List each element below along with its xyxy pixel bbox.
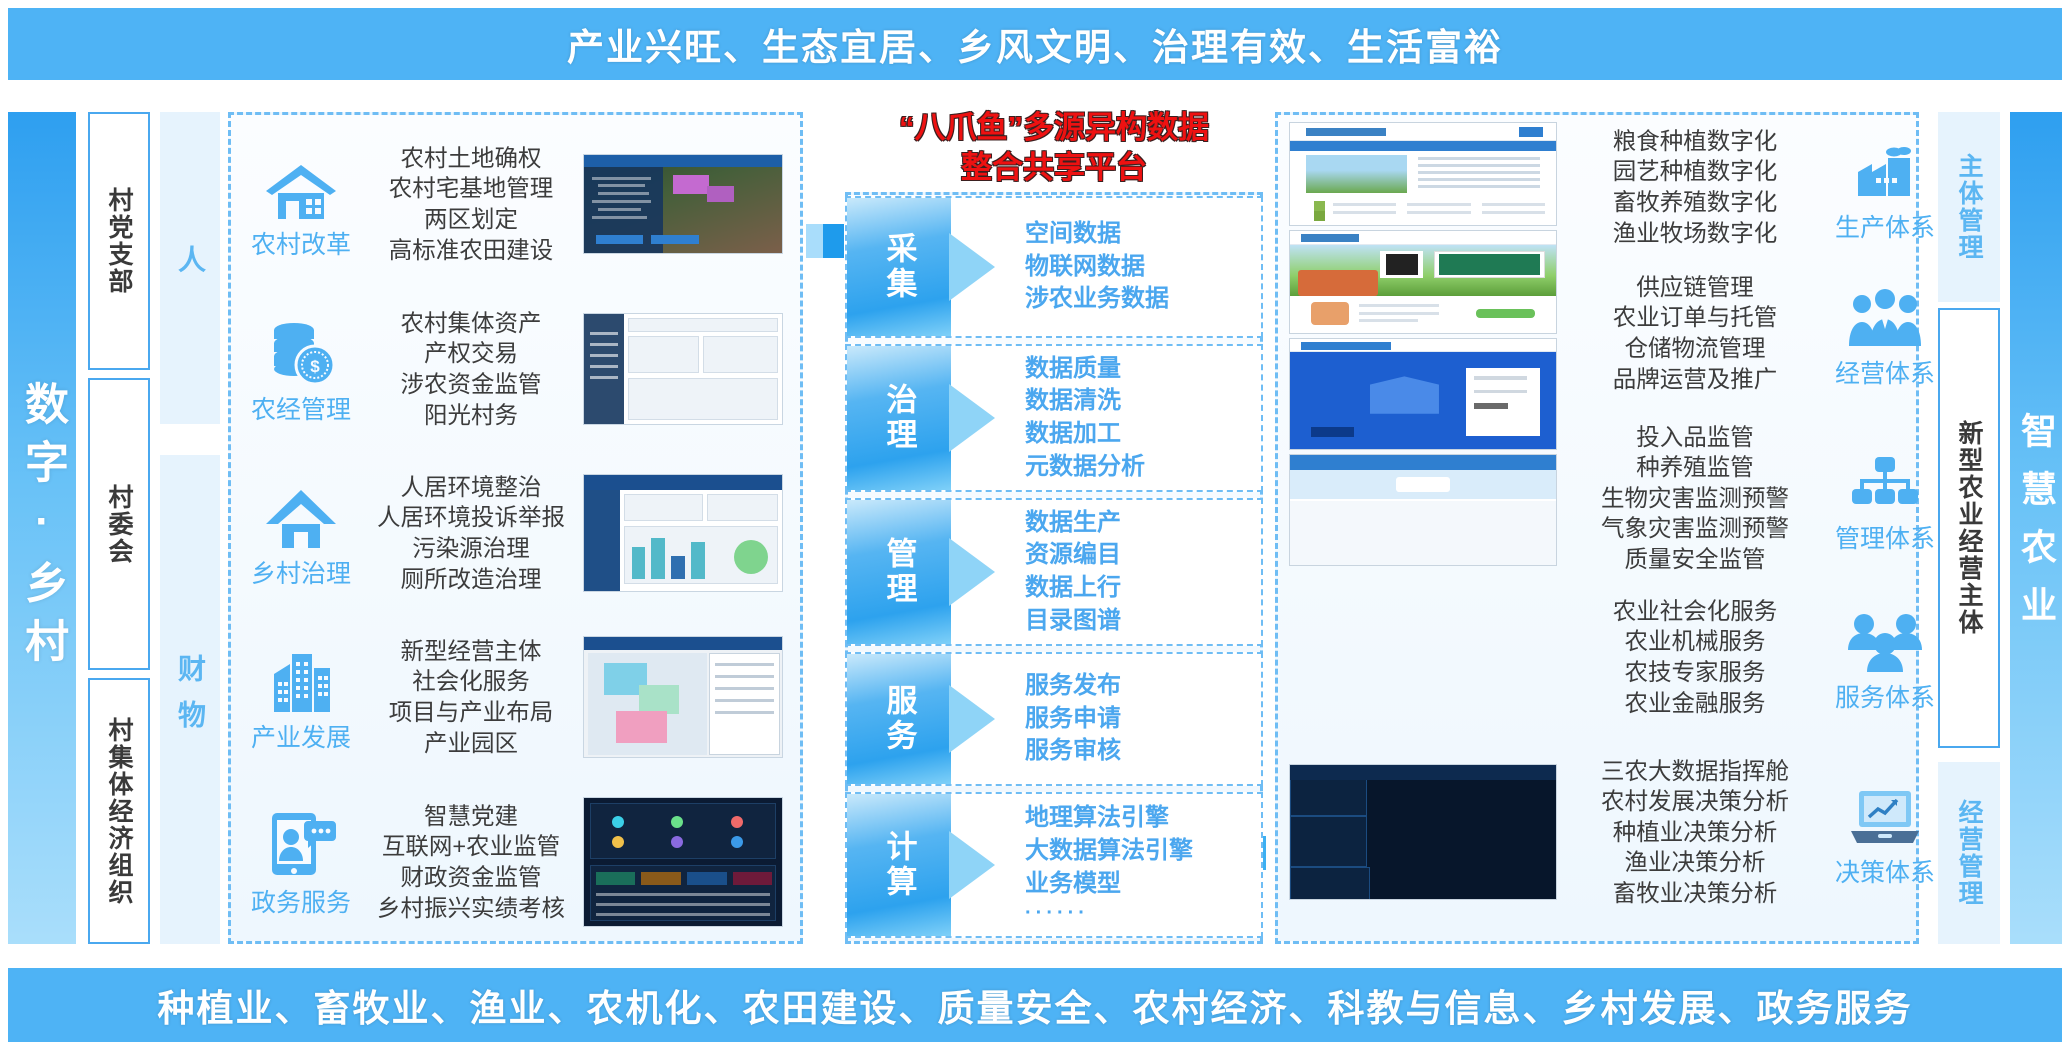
factory-icon <box>1848 130 1922 204</box>
domain-row-rural-governance: 乡村治理 人居环境整治 人居环境投诉举报 污染源治理 厕所改造治理 <box>231 455 806 611</box>
system-item: 畜牧业决策分析 <box>1570 878 1820 909</box>
process-item-ellipsis: ······ <box>1025 900 1261 927</box>
laptop-chart-icon <box>1845 775 1925 849</box>
domain-row-industry-development: 产业发展 新型经营主体 社会化服务 项目与产业布局 产业园区 <box>231 619 806 775</box>
resource-group-label: 财物 <box>170 654 210 746</box>
domain-item: 阳光村务 <box>371 400 571 431</box>
domain-item: 乡村振兴实绩考核 <box>371 893 571 924</box>
domain-item: 互联网+农业监管 <box>371 831 571 862</box>
system-item: 园艺种植数字化 <box>1570 156 1820 187</box>
top-banner: 产业兴旺、生态宜居、乡风文明、治理有效、生活富裕 <box>8 8 2062 80</box>
platform-title: “八爪鱼”多源异构数据 整合共享平台 <box>845 108 1263 188</box>
domain-item: 人居环境整治 <box>371 472 571 503</box>
domain-caption: 农村改革 <box>251 225 351 261</box>
process-tab-label: 治理 <box>877 383 922 453</box>
system-item: 农业机械服务 <box>1570 626 1820 657</box>
system-row-operation: 供应链管理 农业订单与托管 仓储物流管理 品牌运营及推广 经营体系 <box>1570 268 1950 398</box>
process-tab: 管理 <box>847 500 951 644</box>
system-icon-block: 服务体系 <box>1820 600 1950 714</box>
domain-row-government-service: 政务服务 智慧党建 互联网+农业监管 财政资金监管 乡村振兴实绩考核 <box>231 783 806 941</box>
left-rail-title: 数字·乡村 <box>8 112 76 944</box>
domain-item-list: 新型经营主体 社会化服务 项目与产业布局 产业园区 <box>371 636 571 758</box>
resource-group-label: 人 <box>170 245 210 291</box>
system-row-production: 粮食种植数字化 园艺种植数字化 畜牧养殖数字化 渔业牧场数字化 生产体系 <box>1570 122 1950 252</box>
thumbnail-service-portal <box>1289 454 1557 566</box>
process-item-list: 空间数据 物联网数据 涉农业务数据 <box>951 198 1261 336</box>
system-item: 质量安全监管 <box>1570 544 1820 575</box>
system-row-service: 农业社会化服务 农业机械服务 农技专家服务 农业金融服务 服务体系 <box>1570 592 1950 722</box>
platform-title-line2: 整合共享平台 <box>845 148 1263 188</box>
org-unit-label: 村委会 <box>101 484 137 565</box>
thumbnail-map-satellite <box>583 154 783 254</box>
process-item: 目录图谱 <box>1025 605 1261 638</box>
system-item: 种养殖监管 <box>1570 452 1820 483</box>
process-item: 数据生产 <box>1025 507 1261 540</box>
system-caption: 决策体系 <box>1835 853 1935 889</box>
process-item: 业务模型 <box>1025 868 1261 901</box>
domain-icon-block: $ 农经管理 <box>231 312 371 426</box>
process-item: 服务发布 <box>1025 670 1261 703</box>
system-item: 气象灾害监测预警 <box>1570 513 1820 544</box>
system-row-management: 投入品监管 种养殖监管 生物灾害监测预警 气象灾害监测预警 质量安全监管 管理体… <box>1570 418 1950 578</box>
process-tab-label: 管理 <box>877 537 922 607</box>
system-item: 种植业决策分析 <box>1570 817 1820 848</box>
system-item: 投入品监管 <box>1570 422 1820 453</box>
resource-group-finance-assets: 财物 <box>160 455 220 944</box>
resource-group-people: 人 <box>160 112 220 424</box>
right-rail-business-management: 经营管理 <box>1938 762 2000 944</box>
left-domain-panel: 农村改革 农村土地确权 农村宅基地管理 两区划定 高标准农田建设 <box>228 112 803 944</box>
system-item: 农业订单与托管 <box>1570 302 1820 333</box>
system-item-list: 三农大数据指挥舱 农村发展决策分析 种植业决策分析 渔业决策分析 畜牧业决策分析 <box>1570 756 1820 909</box>
thumbnail-bigdata-command <box>1289 764 1557 900</box>
left-rail-title-text: 数字·乡村 <box>10 381 74 676</box>
system-item: 畜牧养殖数字化 <box>1570 187 1820 218</box>
system-icon-block: 生产体系 <box>1820 130 1950 244</box>
domain-item: 产权交易 <box>371 338 571 369</box>
process-item: 数据清洗 <box>1025 385 1261 418</box>
process-tab-label: 采集 <box>877 232 922 302</box>
platform-title-line1: “八爪鱼”多源异构数据 <box>845 108 1263 148</box>
domain-item: 新型经营主体 <box>371 636 571 667</box>
system-caption: 经营体系 <box>1835 354 1935 390</box>
domain-item: 农村宅基地管理 <box>371 173 571 204</box>
right-rail-label: 主体管理 <box>1951 153 1987 261</box>
domain-icon-block: 农村改革 <box>231 147 371 261</box>
domain-item: 农村集体资产 <box>371 308 571 339</box>
system-icon-block: 经营体系 <box>1820 276 1950 390</box>
right-rail-label: 经营管理 <box>1951 799 1987 907</box>
org-unit-village-committee: 村委会 <box>88 378 150 670</box>
domain-caption: 政务服务 <box>251 883 351 919</box>
domain-item-list: 智慧党建 互联网+农业监管 财政资金监管 乡村振兴实绩考核 <box>371 801 571 923</box>
process-block-manage[interactable]: 管理 数据生产 资源编目 数据上行 目录图谱 <box>845 498 1263 646</box>
process-item: 空间数据 <box>1025 218 1261 251</box>
process-item-list: 服务发布 服务申请 服务审核 <box>951 654 1261 784</box>
process-tab: 计算 <box>847 794 951 936</box>
thumbnail-analytics-chart <box>583 474 783 592</box>
svg-text:$: $ <box>310 357 320 376</box>
system-item: 供应链管理 <box>1570 272 1820 303</box>
system-item: 粮食种植数字化 <box>1570 126 1820 157</box>
system-row-decision: 三农大数据指挥舱 农村发展决策分析 种植业决策分析 渔业决策分析 畜牧业决策分析… <box>1570 752 1950 912</box>
domain-item: 产业园区 <box>371 728 571 759</box>
infographic-root: 产业兴旺、生态宜居、乡风文明、治理有效、生活富裕 数字·乡村 村党支部 村委会 … <box>0 0 2070 1050</box>
domain-item: 高标准农田建设 <box>371 235 571 266</box>
thumbnail-dashboard-form <box>583 313 783 425</box>
domain-caption: 乡村治理 <box>251 554 351 590</box>
domain-item: 农村土地确权 <box>371 143 571 174</box>
org-unit-collective-economy: 村集体经济组织 <box>88 678 150 944</box>
domain-item: 项目与产业布局 <box>371 697 571 728</box>
right-rail-label: 新型农业经营主体 <box>1951 420 1987 636</box>
process-item-list: 地理算法引擎 大数据算法引擎 业务模型 ······ <box>951 794 1261 936</box>
thumbnail-gis-map <box>583 636 783 758</box>
process-block-service[interactable]: 服务 服务发布 服务申请 服务审核 <box>845 652 1263 786</box>
home-roof-icon <box>264 476 338 550</box>
process-item: 服务申请 <box>1025 703 1261 736</box>
process-tab-label: 服务 <box>877 684 922 754</box>
system-item: 渔业决策分析 <box>1570 847 1820 878</box>
domain-row-rural-reform: 农村改革 农村土地确权 农村宅基地管理 两区划定 高标准农田建设 <box>231 125 806 283</box>
people-group-icon <box>1846 276 1924 350</box>
domain-item: 财政资金监管 <box>371 862 571 893</box>
thumbnail-traceability-platform <box>1289 230 1557 334</box>
domain-icon-block: 产业发展 <box>231 640 371 754</box>
domain-item-list: 农村集体资产 产权交易 涉农资金监管 阳光村务 <box>371 308 571 430</box>
process-block-collect[interactable]: 采集 空间数据 物联网数据 涉农业务数据 <box>845 196 1263 338</box>
system-item-list: 投入品监管 种养殖监管 生物灾害监测预警 气象灾害监测预警 质量安全监管 <box>1570 422 1820 575</box>
org-unit-village-party-branch: 村党支部 <box>88 112 150 370</box>
system-item: 仓储物流管理 <box>1570 333 1820 364</box>
process-item: 数据质量 <box>1025 353 1261 386</box>
system-item-list: 供应链管理 农业订单与托管 仓储物流管理 品牌运营及推广 <box>1570 272 1820 394</box>
right-rail-entity-management: 主体管理 <box>1938 112 2000 302</box>
house-icon <box>264 147 338 221</box>
domain-item: 涉农资金监管 <box>371 369 571 400</box>
process-item: 资源编目 <box>1025 539 1261 572</box>
system-item-list: 粮食种植数字化 园艺种植数字化 畜牧养殖数字化 渔业牧场数字化 <box>1570 126 1820 248</box>
domain-item-list: 农村土地确权 农村宅基地管理 两区划定 高标准农田建设 <box>371 143 571 265</box>
buildings-icon <box>264 640 338 714</box>
domain-item: 两区划定 <box>371 204 571 235</box>
system-item: 农业社会化服务 <box>1570 596 1820 627</box>
top-banner-text: 产业兴旺、生态宜居、乡风文明、治理有效、生活富裕 <box>567 17 1503 71</box>
system-item: 农技专家服务 <box>1570 657 1820 688</box>
right-rail-title-text: 智慧农业 <box>2010 412 2062 644</box>
domain-item-list: 人居环境整治 人居环境投诉举报 污染源治理 厕所改造治理 <box>371 472 571 594</box>
domain-row-rural-economy: $ 农经管理 农村集体资产 产权交易 涉农资金监管 阳光村务 <box>231 291 806 447</box>
process-block-compute[interactable]: 计算 地理算法引擎 大数据算法引擎 业务模型 ······ <box>845 792 1263 938</box>
system-item: 农业金融服务 <box>1570 688 1820 719</box>
three-people-icon <box>1846 600 1924 674</box>
process-item-list: 数据质量 数据清洗 数据加工 元数据分析 <box>951 346 1261 490</box>
domain-item: 厕所改造治理 <box>371 564 571 595</box>
domain-caption: 农经管理 <box>251 390 351 426</box>
process-item: 数据加工 <box>1025 418 1261 451</box>
right-rail-title: 智慧农业 <box>2010 112 2062 944</box>
system-caption: 生产体系 <box>1835 208 1935 244</box>
domain-icon-block: 乡村治理 <box>231 476 371 590</box>
domain-item: 智慧党建 <box>371 801 571 832</box>
system-item-list: 农业社会化服务 农业机械服务 农技专家服务 农业金融服务 <box>1570 596 1820 718</box>
domain-item: 人居环境投诉举报 <box>371 502 571 533</box>
thumbnail-food-safety-platform <box>1289 338 1557 450</box>
org-tree-icon <box>1848 441 1922 515</box>
process-item: 物联网数据 <box>1025 251 1261 284</box>
domain-item: 污染源治理 <box>371 533 571 564</box>
process-item-list: 数据生产 资源编目 数据上行 目录图谱 <box>951 500 1261 644</box>
domain-caption: 产业发展 <box>251 718 351 754</box>
system-icon-block: 决策体系 <box>1820 775 1950 889</box>
process-tab-label: 计算 <box>877 830 922 900</box>
bottom-banner-text: 种植业、畜牧业、渔业、农机化、农田建设、质量安全、农村经济、科教与信息、乡村发展… <box>158 978 1913 1032</box>
org-unit-label: 村党支部 <box>101 187 137 295</box>
process-item: 服务审核 <box>1025 735 1261 768</box>
process-tab: 服务 <box>847 654 951 784</box>
coins-dollar-icon: $ <box>264 312 338 386</box>
bottom-banner: 种植业、畜牧业、渔业、农机化、农田建设、质量安全、农村经济、科教与信息、乡村发展… <box>8 968 2062 1042</box>
process-item: 大数据算法引擎 <box>1025 835 1261 868</box>
thumbnail-dark-dashboard <box>583 797 783 927</box>
domain-item: 社会化服务 <box>371 666 571 697</box>
thumbnail-agriculture-portal <box>1289 122 1557 226</box>
system-item: 生物灾害监测预警 <box>1570 483 1820 514</box>
connector-left <box>806 224 844 258</box>
process-tab: 治理 <box>847 346 951 490</box>
mobile-user-chat-icon <box>264 805 338 879</box>
process-block-govern[interactable]: 治理 数据质量 数据清洗 数据加工 元数据分析 <box>845 344 1263 492</box>
process-tab: 采集 <box>847 198 951 336</box>
system-item: 三农大数据指挥舱 <box>1570 756 1820 787</box>
process-item: 数据上行 <box>1025 572 1261 605</box>
system-item: 渔业牧场数字化 <box>1570 218 1820 249</box>
system-icon-block: 管理体系 <box>1820 441 1950 555</box>
process-item: 涉农业务数据 <box>1025 283 1261 316</box>
process-item: 地理算法引擎 <box>1025 802 1261 835</box>
system-caption: 服务体系 <box>1835 678 1935 714</box>
domain-icon-block: 政务服务 <box>231 805 371 919</box>
system-item: 农村发展决策分析 <box>1570 786 1820 817</box>
system-item: 品牌运营及推广 <box>1570 364 1820 395</box>
system-caption: 管理体系 <box>1835 519 1935 555</box>
process-item: 元数据分析 <box>1025 451 1261 484</box>
org-unit-label: 村集体经济组织 <box>101 717 137 906</box>
right-rail-new-agri-entity: 新型农业经营主体 <box>1938 308 2000 748</box>
